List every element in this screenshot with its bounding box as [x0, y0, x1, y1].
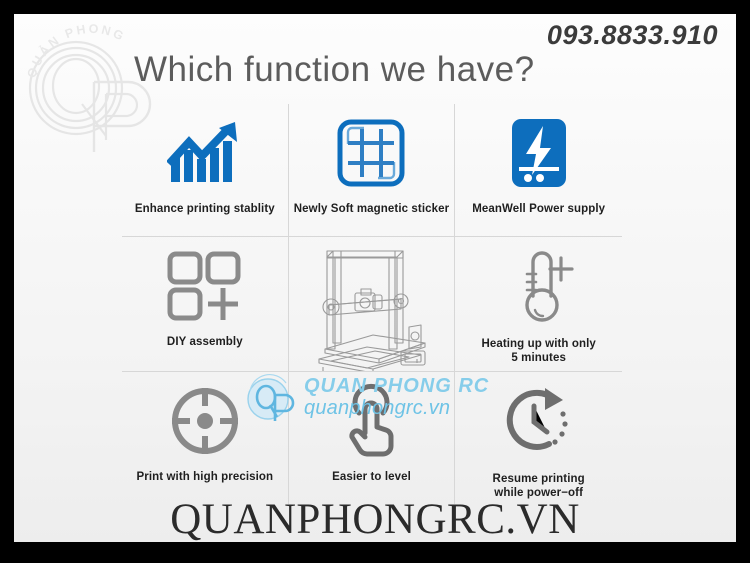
icon-wrap [510, 110, 568, 196]
icon-wrap [168, 378, 242, 464]
3d-printer-illustration [309, 243, 433, 371]
icon-wrap [167, 110, 243, 196]
banner-stage: QUẢN PHONG 093.8833.910 Which function w… [0, 0, 750, 563]
power-supply-bolt-icon [510, 117, 568, 189]
feature-caption: Enhance printing stablity [135, 202, 275, 216]
feature-caption-line2: 5 minutes [511, 352, 566, 364]
feature-cell-printer-illustration [289, 237, 456, 372]
icon-wrap [340, 378, 402, 464]
magnetic-sticker-grid-icon [336, 118, 406, 188]
feature-cell-resume-printing: Resume printing while power−off [455, 372, 622, 505]
page-title: Which function we have? [134, 50, 535, 90]
feature-grid: Enhance printing stablity [122, 104, 622, 504]
modular-squares-plus-icon [166, 250, 244, 322]
feature-caption-line1: Heating up with only [481, 338, 595, 350]
clock-restore-icon [501, 384, 577, 458]
feature-cell-fast-heating: Heating up with only 5 minutes [455, 237, 622, 372]
bar-chart-arrow-icon [167, 120, 243, 186]
feature-cell-high-precision: Print with high precision [122, 372, 289, 505]
tap-hand-icon [340, 383, 402, 459]
corner-logo-arc-text: QUẢN PHONG [24, 22, 127, 80]
feature-cell-soft-magnetic-sticker: Newly Soft magnetic sticker [289, 104, 456, 237]
product-feature-banner: QUẢN PHONG 093.8833.910 Which function w… [14, 14, 736, 542]
feature-cell-diy-assembly: DIY assembly [122, 237, 289, 372]
feature-caption-line1: Resume printing [493, 473, 585, 485]
icon-wrap [501, 378, 577, 464]
icon-wrap [166, 243, 244, 329]
feature-caption: MeanWell Power supply [472, 202, 605, 216]
crosshair-target-icon [168, 384, 242, 458]
svg-text:QUẢN PHONG: QUẢN PHONG [24, 22, 127, 80]
feature-cell-meanwell-power-supply: MeanWell Power supply [455, 104, 622, 237]
feature-cell-easier-to-level: Easier to level [289, 372, 456, 505]
feature-caption: DIY assembly [167, 335, 243, 349]
feature-caption: Print with high precision [136, 470, 273, 484]
footer-brand: QUANPHONGRC.VN [14, 495, 736, 542]
feature-caption: Newly Soft magnetic sticker [294, 202, 449, 216]
feature-caption: Easier to level [332, 470, 411, 484]
icon-wrap [336, 110, 406, 196]
thermometer-plus-icon [503, 248, 575, 324]
feature-cell-enhance-printing-stability: Enhance printing stablity [122, 104, 289, 237]
phone-number: 093.8833.910 [547, 20, 718, 51]
feature-caption: Heating up with only 5 minutes [481, 337, 595, 366]
icon-wrap [503, 243, 575, 329]
